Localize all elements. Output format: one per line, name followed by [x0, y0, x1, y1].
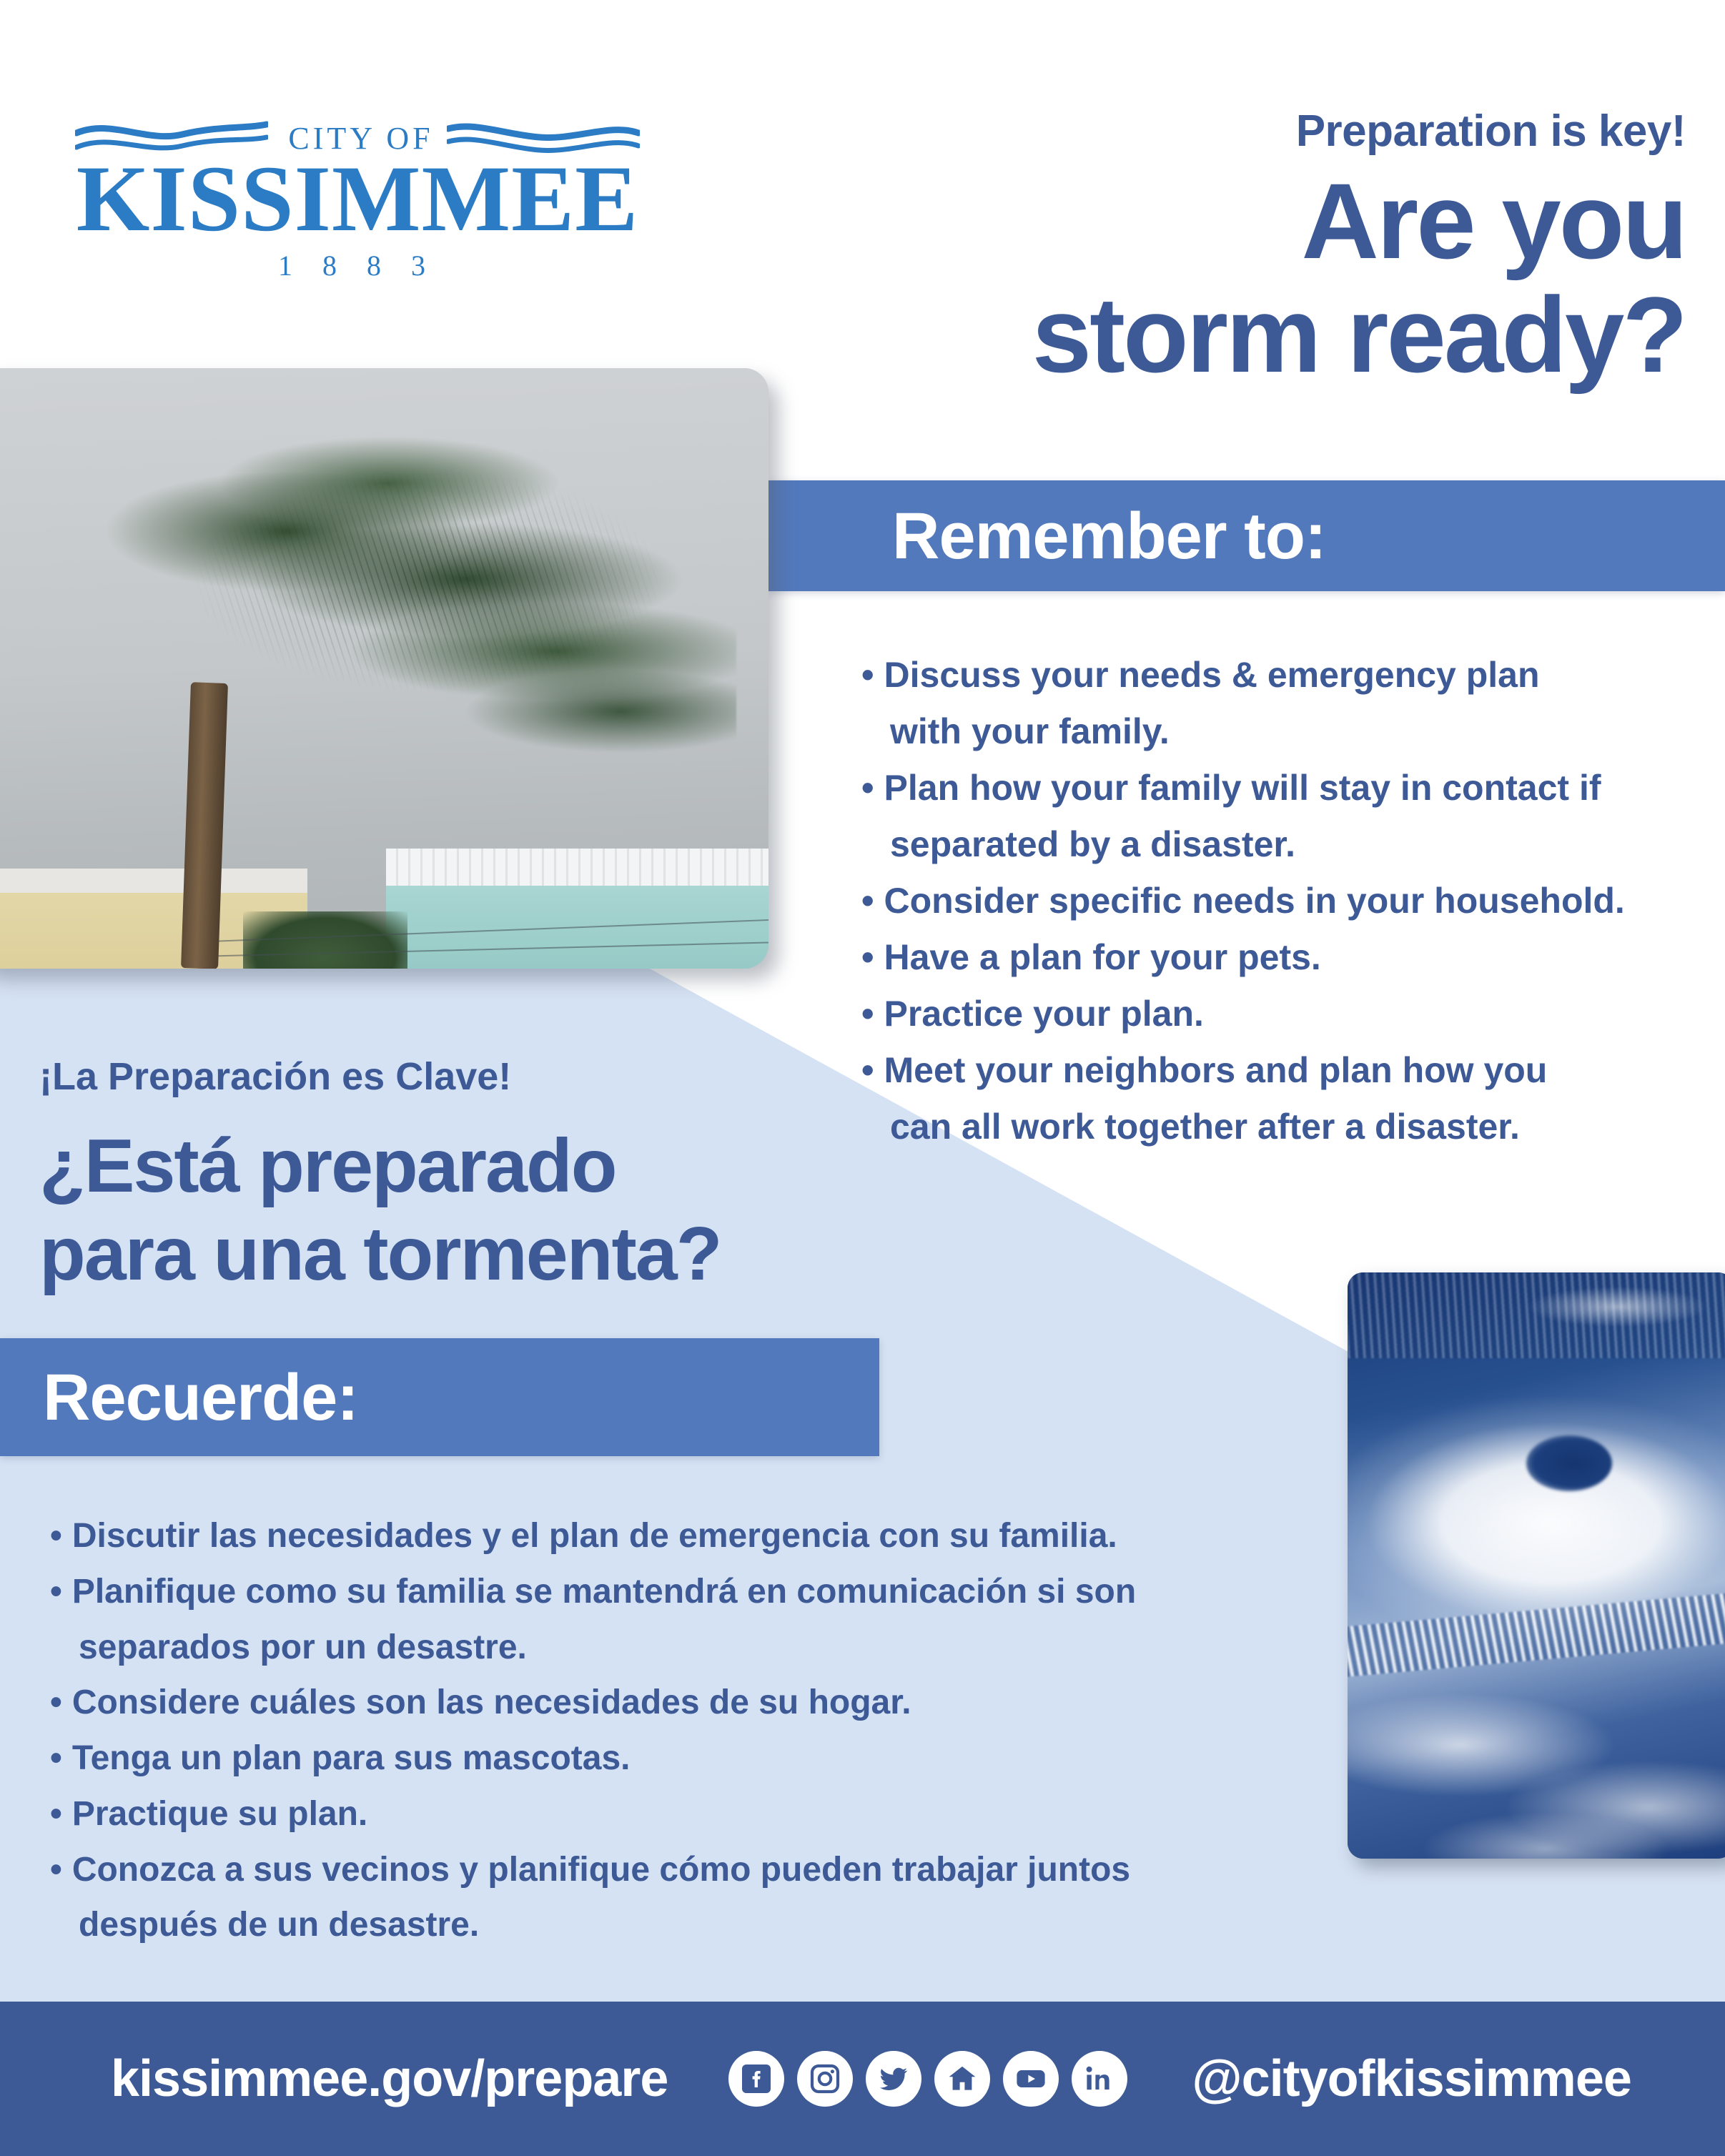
english-headline: Are you storm ready? — [756, 164, 1686, 392]
list-item-continuation: separados por un desastre. — [50, 1620, 1344, 1676]
footer-bar: kissimmee.gov/prepare @cityofkissimmee — [0, 2002, 1725, 2156]
metal-roof — [386, 849, 768, 886]
list-item-text: Planifique como su familia se mantendrá … — [72, 1573, 1136, 1611]
spanish-headline-line2: para una tormenta? — [39, 1210, 969, 1298]
lower-clouds — [1348, 1662, 1725, 1859]
list-item: •Discuss your needs & emergency plan wit… — [861, 647, 1705, 760]
list-item-text: Meet your neighbors and plan how you — [884, 1050, 1548, 1090]
bullet-dot: • — [50, 1683, 62, 1721]
list-item-text: Have a plan for your pets. — [884, 937, 1321, 977]
bullet-dot: • — [50, 1739, 62, 1777]
linkedin-icon[interactable] — [1072, 2051, 1127, 2107]
list-item-text: Practique su plan. — [72, 1795, 367, 1833]
social-handle[interactable]: @cityofkissimmee — [1192, 2049, 1631, 2108]
list-item: •Discutir las necesidades y el plan de e… — [50, 1508, 1344, 1564]
upper-cloud-streaks — [1348, 1272, 1725, 1358]
list-item-continuation: separated by a disaster. — [861, 816, 1705, 873]
list-item: •Have a plan for your pets. — [861, 929, 1705, 986]
english-band-label: Remember to: — [892, 503, 1326, 569]
list-item-text: Considere cuáles son las necesidades de … — [72, 1683, 911, 1721]
list-item-text: Consider specific needs in your househol… — [884, 881, 1625, 921]
city-logo: CITY OF KISSIMMEE 1 8 8 3 — [75, 114, 640, 279]
spanish-band-label: Recuerde: — [43, 1365, 358, 1430]
list-item: •Tenga un plan para sus mascotas. — [50, 1731, 1344, 1786]
list-item: •Plan how your family will stay in conta… — [861, 760, 1705, 873]
list-item-text: Plan how your family will stay in contac… — [884, 768, 1601, 808]
hurricane-eye — [1526, 1435, 1612, 1491]
hurricane-satellite-photo — [1348, 1272, 1725, 1859]
list-item: •Meet your neighbors and plan how you ca… — [861, 1042, 1705, 1155]
twitter-icon[interactable] — [866, 2051, 921, 2107]
english-headline-line1: Are you — [756, 164, 1686, 278]
list-item: •Planifique como su familia se mantendrá… — [50, 1564, 1344, 1676]
instagram-icon[interactable] — [797, 2051, 853, 2107]
shrubbery — [243, 911, 407, 969]
spanish-bullet-list: •Discutir las necesidades y el plan de e… — [50, 1508, 1344, 1953]
spanish-kicker: ¡La Preparación es Clave! — [39, 1054, 511, 1099]
bullet-dot: • — [861, 994, 874, 1034]
bullet-dot: • — [861, 937, 874, 977]
list-item-text: Practice your plan. — [884, 994, 1204, 1034]
facebook-icon[interactable] — [728, 2051, 784, 2107]
list-item-continuation: después de un desastre. — [50, 1897, 1344, 1953]
bullet-dot: • — [861, 768, 874, 808]
english-section-band: Remember to: — [768, 480, 1725, 591]
list-item-text: Tenga un plan para sus mascotas. — [72, 1739, 631, 1777]
bullet-dot: • — [50, 1517, 62, 1555]
bullet-dot: • — [861, 881, 874, 921]
list-item-continuation: with your family. — [861, 703, 1705, 760]
logo-city-name: KISSIMMEE — [75, 152, 640, 246]
list-item: •Practique su plan. — [50, 1786, 1344, 1842]
youtube-icon[interactable] — [1003, 2051, 1059, 2107]
flyer-page: CITY OF KISSIMMEE 1 8 8 3 Preparation is… — [0, 0, 1725, 2156]
list-item-continuation: can all work together after a disaster. — [861, 1099, 1705, 1155]
english-kicker: Preparation is key! — [1296, 106, 1686, 157]
list-item-text: Discutir las necesidades y el plan de em… — [72, 1517, 1117, 1555]
list-item: •Considere cuáles son las necesidades de… — [50, 1675, 1344, 1731]
bullet-dot: • — [50, 1573, 62, 1611]
palm-frond-detail — [93, 418, 736, 804]
bullet-dot: • — [861, 1050, 874, 1090]
spanish-headline: ¿Está preparado para una tormenta? — [39, 1122, 969, 1298]
website-url[interactable]: kissimmee.gov/prepare — [111, 2049, 668, 2108]
windblown-palm-tree-photo — [0, 368, 768, 969]
list-item-text: Discuss your needs & emergency plan — [884, 655, 1540, 695]
social-links — [728, 2051, 1127, 2107]
nextdoor-icon[interactable] — [934, 2051, 990, 2107]
english-bullet-list: •Discuss your needs & emergency plan wit… — [861, 647, 1705, 1155]
bullet-dot: • — [50, 1851, 62, 1889]
english-headline-line2: storm ready? — [756, 278, 1686, 392]
spanish-headline-line1: ¿Está preparado — [39, 1122, 969, 1210]
spanish-section-band: Recuerde: — [0, 1338, 879, 1456]
list-item: •Practice your plan. — [861, 986, 1705, 1042]
bullet-dot: • — [861, 655, 874, 695]
list-item: •Conozca a sus vecinos y planifique cómo… — [50, 1842, 1344, 1954]
list-item-text: Conozca a sus vecinos y planifique cómo … — [72, 1851, 1130, 1889]
logo-founding-year: 1 8 8 3 — [75, 249, 640, 282]
bullet-dot: • — [50, 1795, 62, 1833]
list-item: •Consider specific needs in your househo… — [861, 873, 1705, 929]
